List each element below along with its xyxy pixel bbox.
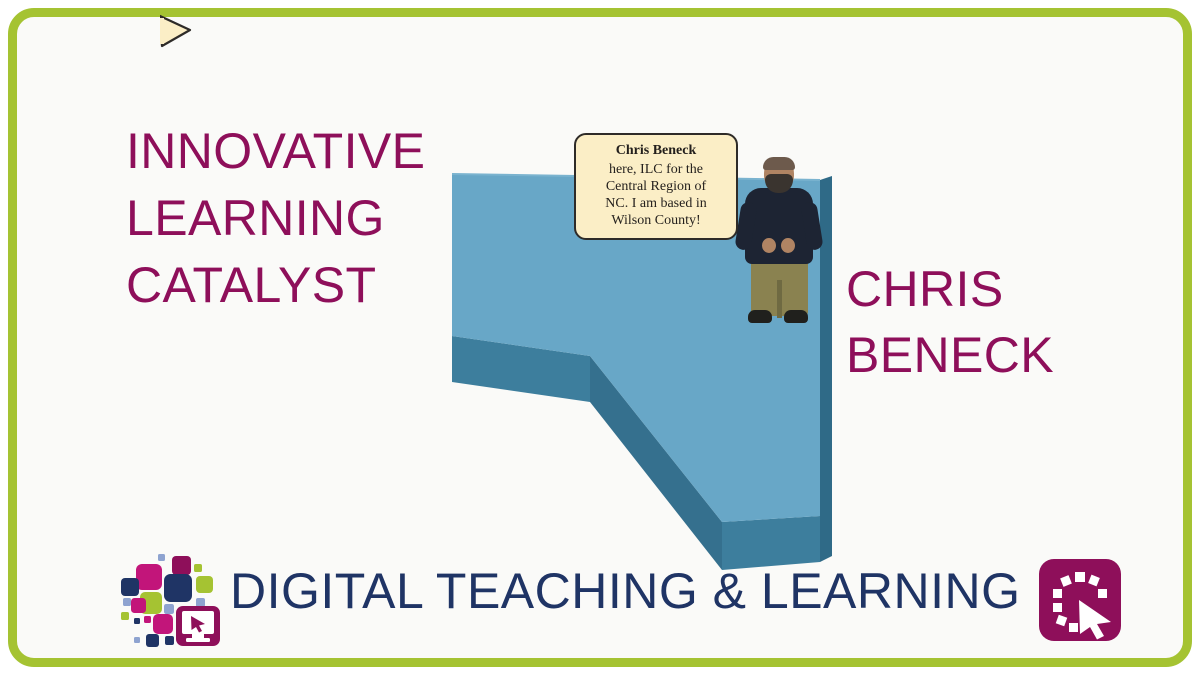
monitor-cursor-icon [176, 606, 220, 646]
presenter-hand-left [762, 238, 776, 253]
presenter-hair [763, 157, 795, 170]
brand-wordmark: DIGITAL TEACHING & LEARNING [230, 566, 1020, 616]
dotted-circle-cursor-badge-icon [1038, 558, 1122, 642]
presenter-photo [736, 158, 822, 326]
presenter-shirt [745, 188, 813, 264]
slide-canvas: Chris Beneck here, ILC for the Central R… [0, 0, 1200, 675]
speech-bubble-speaker: Chris Beneck [585, 143, 727, 160]
mosaic-squares-icon [120, 554, 224, 648]
speech-bubble-message: here, ILC for the Central Region of NC. … [585, 161, 727, 229]
presenter-name: CHRIS BENECK [846, 256, 1146, 388]
page-title: INNOVATIVE LEARNING CATALYST [126, 118, 456, 319]
presenter-shoe-right [784, 310, 808, 323]
presenter-leg-gap [777, 280, 782, 318]
speech-bubble: Chris Beneck here, ILC for the Central R… [574, 133, 738, 240]
presenter-hand-right [781, 238, 795, 253]
speech-bubble-tail [160, 14, 192, 48]
presenter-shoe-left [748, 310, 772, 323]
slide-content: Chris Beneck here, ILC for the Central R… [0, 0, 1200, 675]
brand-logo-bar: DIGITAL TEACHING & LEARNING [120, 550, 1130, 650]
